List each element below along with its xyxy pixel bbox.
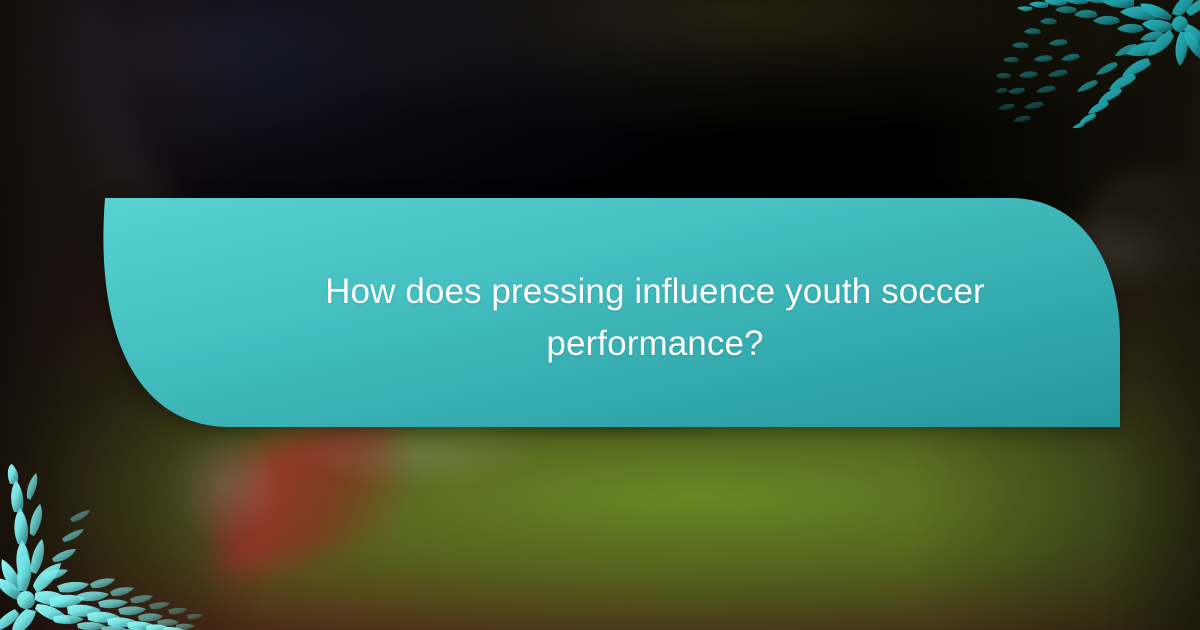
banner-title: How does pressing influence youth soccer… xyxy=(230,266,1080,370)
share-card: How does pressing influence youth soccer… xyxy=(0,0,1200,630)
title-banner: How does pressing influence youth soccer… xyxy=(80,190,1120,438)
